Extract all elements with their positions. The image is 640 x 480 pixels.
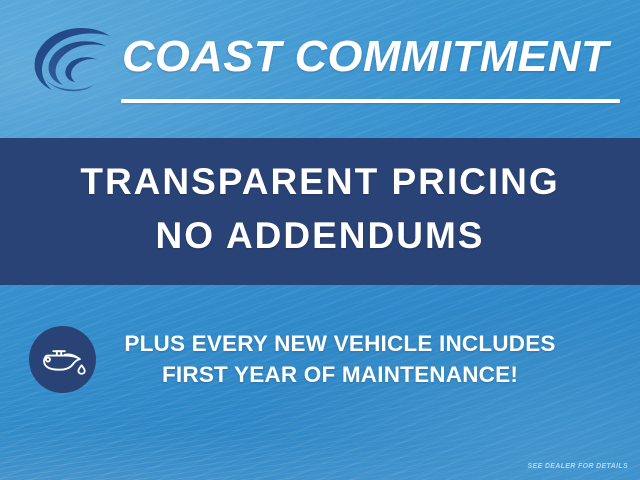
brand-title: COAST COMMITMENT xyxy=(122,26,632,88)
coast-commitment-banner: COAST COMMITMENT TRANSPARENT PRICING NO … xyxy=(0,0,640,480)
coast-wave-swirl-icon xyxy=(22,22,118,96)
promo-row: PLUS EVERY NEW VEHICLE INCLUDES FIRST YE… xyxy=(0,320,640,400)
promo-line-1: PLUS EVERY NEW VEHICLE INCLUDES xyxy=(100,328,580,359)
oil-can-icon xyxy=(40,342,86,378)
promo-text: PLUS EVERY NEW VEHICLE INCLUDES FIRST YE… xyxy=(100,328,580,390)
promo-line-2: FIRST YEAR OF MAINTENANCE! xyxy=(100,359,580,390)
headline-line-2: NO ADDENDUMS xyxy=(0,215,640,257)
banner-header: COAST COMMITMENT xyxy=(0,0,640,135)
oil-can-icon-badge xyxy=(29,326,96,393)
header-divider xyxy=(121,99,620,103)
headline-line-1: TRANSPARENT PRICING xyxy=(0,161,640,203)
headline-band: TRANSPARENT PRICING NO ADDENDUMS xyxy=(0,138,640,285)
disclaimer-text: SEE DEALER FOR DETAILS xyxy=(527,463,628,470)
